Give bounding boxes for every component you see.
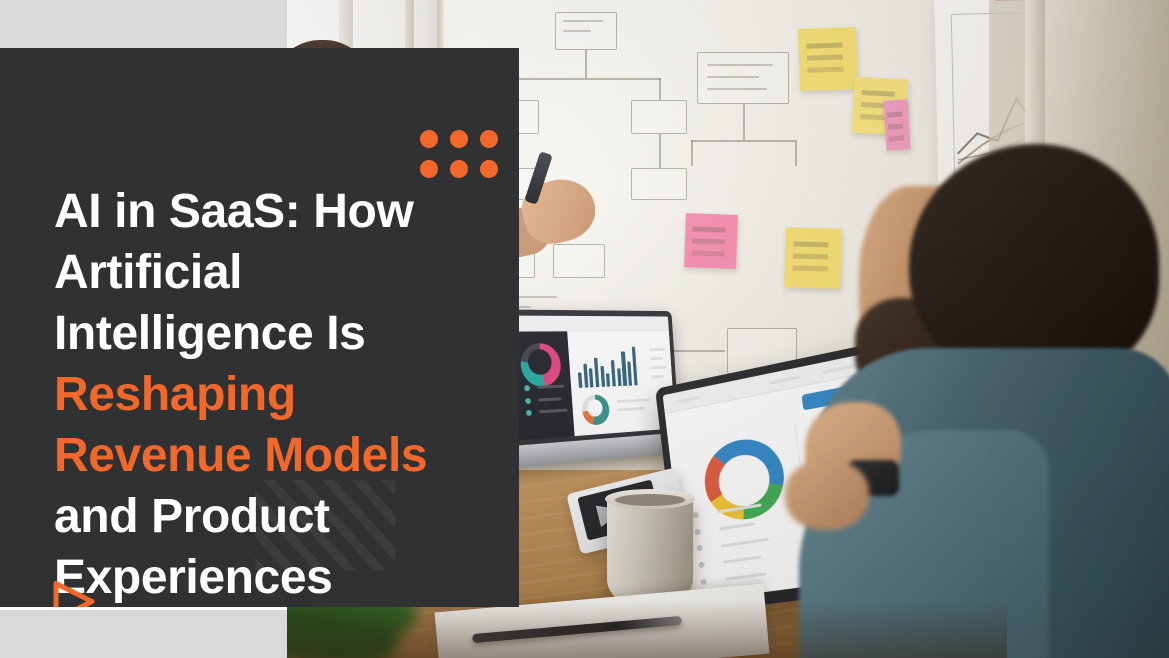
hero-banner: AI in SaaS: How Artificial Intelligence … bbox=[0, 0, 1169, 658]
headline-highlight: Reshaping Revenue Models bbox=[54, 368, 427, 482]
headline-part-1: AI in SaaS: How Artificial Intelligence … bbox=[54, 185, 413, 360]
sticky-note bbox=[684, 213, 738, 269]
dot-grid-icon bbox=[420, 130, 486, 178]
top-gray-band bbox=[0, 0, 287, 48]
bottom-gray-band bbox=[0, 610, 287, 658]
play-triangle-icon bbox=[48, 576, 100, 607]
coffee-mug bbox=[607, 495, 693, 605]
page-title: AI in SaaS: How Artificial Intelligence … bbox=[54, 181, 494, 607]
sticky-note bbox=[798, 27, 858, 91]
seated-man bbox=[809, 130, 1169, 658]
play-button[interactable] bbox=[48, 576, 100, 607]
coffee-mug-interior bbox=[615, 494, 685, 506]
headline-panel: AI in SaaS: How Artificial Intelligence … bbox=[0, 48, 519, 607]
